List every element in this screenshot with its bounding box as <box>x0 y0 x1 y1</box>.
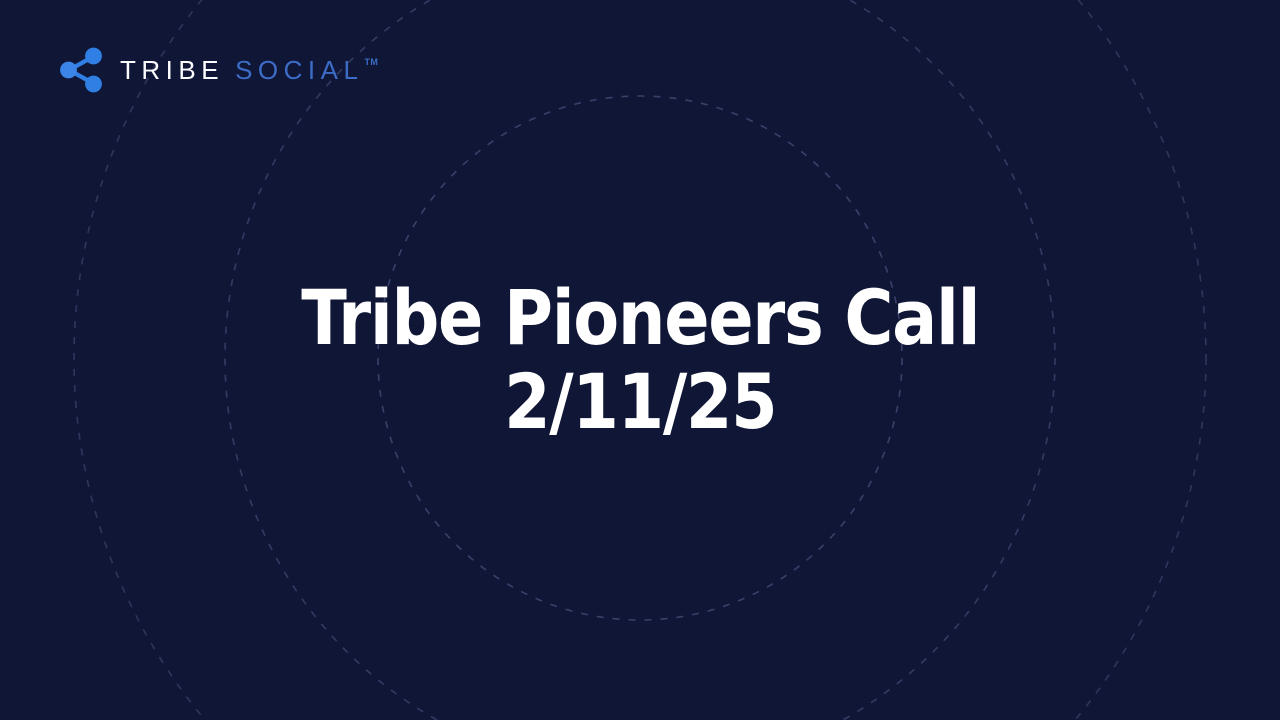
page-title-line-2: 2/11/25 <box>301 360 979 444</box>
page-title: Tribe Pioneers Call 2/11/25 <box>301 276 979 444</box>
presentation-slide: TRIBE SOCIAL TM Tribe Pioneers Call 2/11… <box>0 0 1280 720</box>
slide-title-block: Tribe Pioneers Call 2/11/25 <box>0 0 1280 720</box>
page-title-line-1: Tribe Pioneers Call <box>301 276 979 360</box>
